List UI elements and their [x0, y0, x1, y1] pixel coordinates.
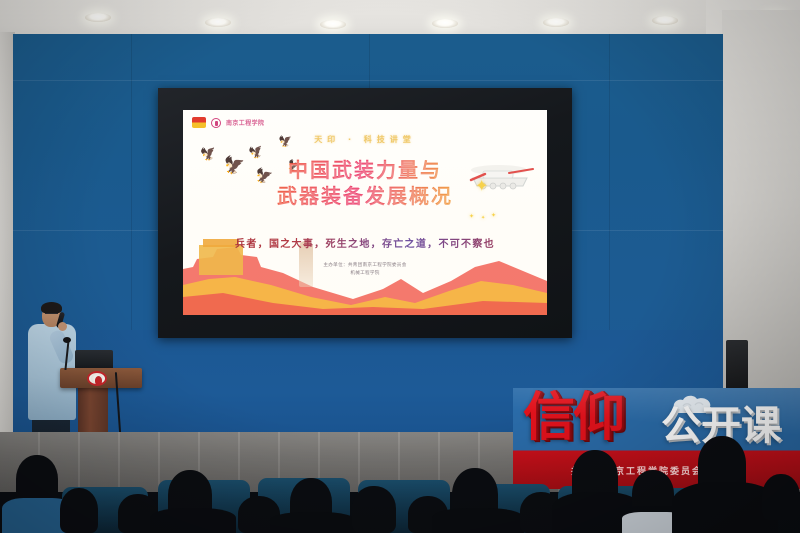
- glasses-icon: [45, 313, 58, 316]
- organizer-line-2: 机械工程学院: [183, 270, 547, 278]
- slide-organizer: 主办单位：共青团南京工程学院委员会 机械工程学院: [183, 262, 547, 278]
- slide-kicker: 天印 · 科技讲堂: [183, 134, 547, 145]
- star-icon: ✦: [491, 213, 496, 219]
- slide-title-line-1: 中国武装力量与: [183, 158, 547, 184]
- presenter-hand: [58, 322, 67, 331]
- downlight-icon: [543, 18, 569, 27]
- mic-head-icon: [63, 337, 71, 343]
- lecture-hall-photo: 🦅 🦅 🦅 🦅 🦅 🦅 南京工程学院 天印 · 科技讲堂: [0, 0, 800, 533]
- slide-logos: 南京工程学院: [192, 117, 264, 128]
- audience-head: [762, 474, 800, 520]
- podium-crest-icon: [87, 371, 107, 386]
- audience-head: [60, 488, 98, 533]
- slide-title-line-2: 武器装备发展概况: [183, 184, 547, 210]
- downlight-icon: [652, 16, 678, 25]
- downlight-icon: [85, 13, 111, 22]
- party-emblem-icon: [192, 117, 206, 128]
- star-icon: ✦: [475, 178, 488, 194]
- audience-member: [432, 508, 524, 533]
- slide-title: 中国武装力量与 武器装备发展概况: [183, 158, 547, 209]
- projection-screen[interactable]: 🦅 🦅 🦅 🦅 🦅 🦅 南京工程学院 天印 · 科技讲堂: [183, 110, 547, 315]
- downlight-icon: [432, 19, 458, 28]
- audience-head: [352, 486, 396, 533]
- audience-member: [270, 512, 356, 533]
- presentation-slide: 🦅 🦅 🦅 🦅 🦅 🦅 南京工程学院 天印 · 科技讲堂: [183, 110, 547, 315]
- laptop-icon: [75, 350, 113, 370]
- star-icon: ✦: [481, 216, 485, 221]
- star-icon: ✦: [469, 214, 474, 220]
- university-logo-text: 南京工程学院: [226, 118, 264, 127]
- university-mark-icon: [211, 118, 221, 128]
- downlight-icon: [205, 18, 231, 27]
- audience-member: [150, 508, 236, 533]
- banner-title-red: 信仰: [523, 392, 623, 444]
- slide-quote: 兵者，国之大事，死生之地，存亡之道，不可不察也: [183, 235, 547, 250]
- organizer-line-1: 主办单位：共青团南京工程学院委员会: [183, 262, 547, 270]
- downlight-icon: [320, 20, 346, 29]
